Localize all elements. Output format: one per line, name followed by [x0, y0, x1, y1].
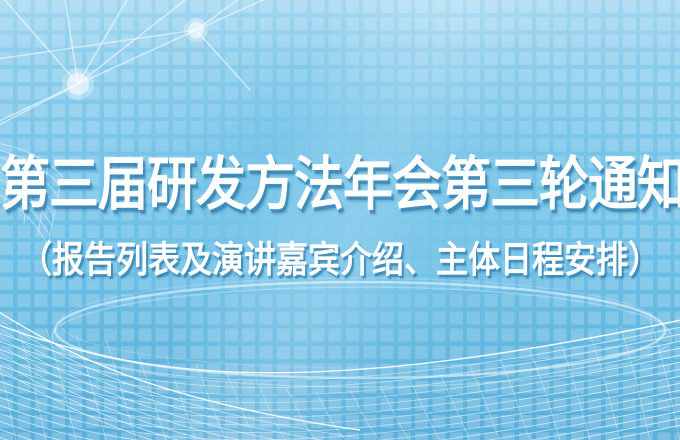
conference-poster-banner: 第三届研发方法年会第三轮通知 （报告列表及演讲嘉宾介绍、主体日程安排） — [0, 0, 680, 440]
poster-text-block: 第三届研发方法年会第三轮通知 （报告列表及演讲嘉宾介绍、主体日程安排） — [0, 152, 680, 276]
page-title: 第三届研发方法年会第三轮通知 — [0, 152, 680, 217]
page-subtitle: （报告列表及演讲嘉宾介绍、主体日程安排） — [0, 238, 680, 281]
